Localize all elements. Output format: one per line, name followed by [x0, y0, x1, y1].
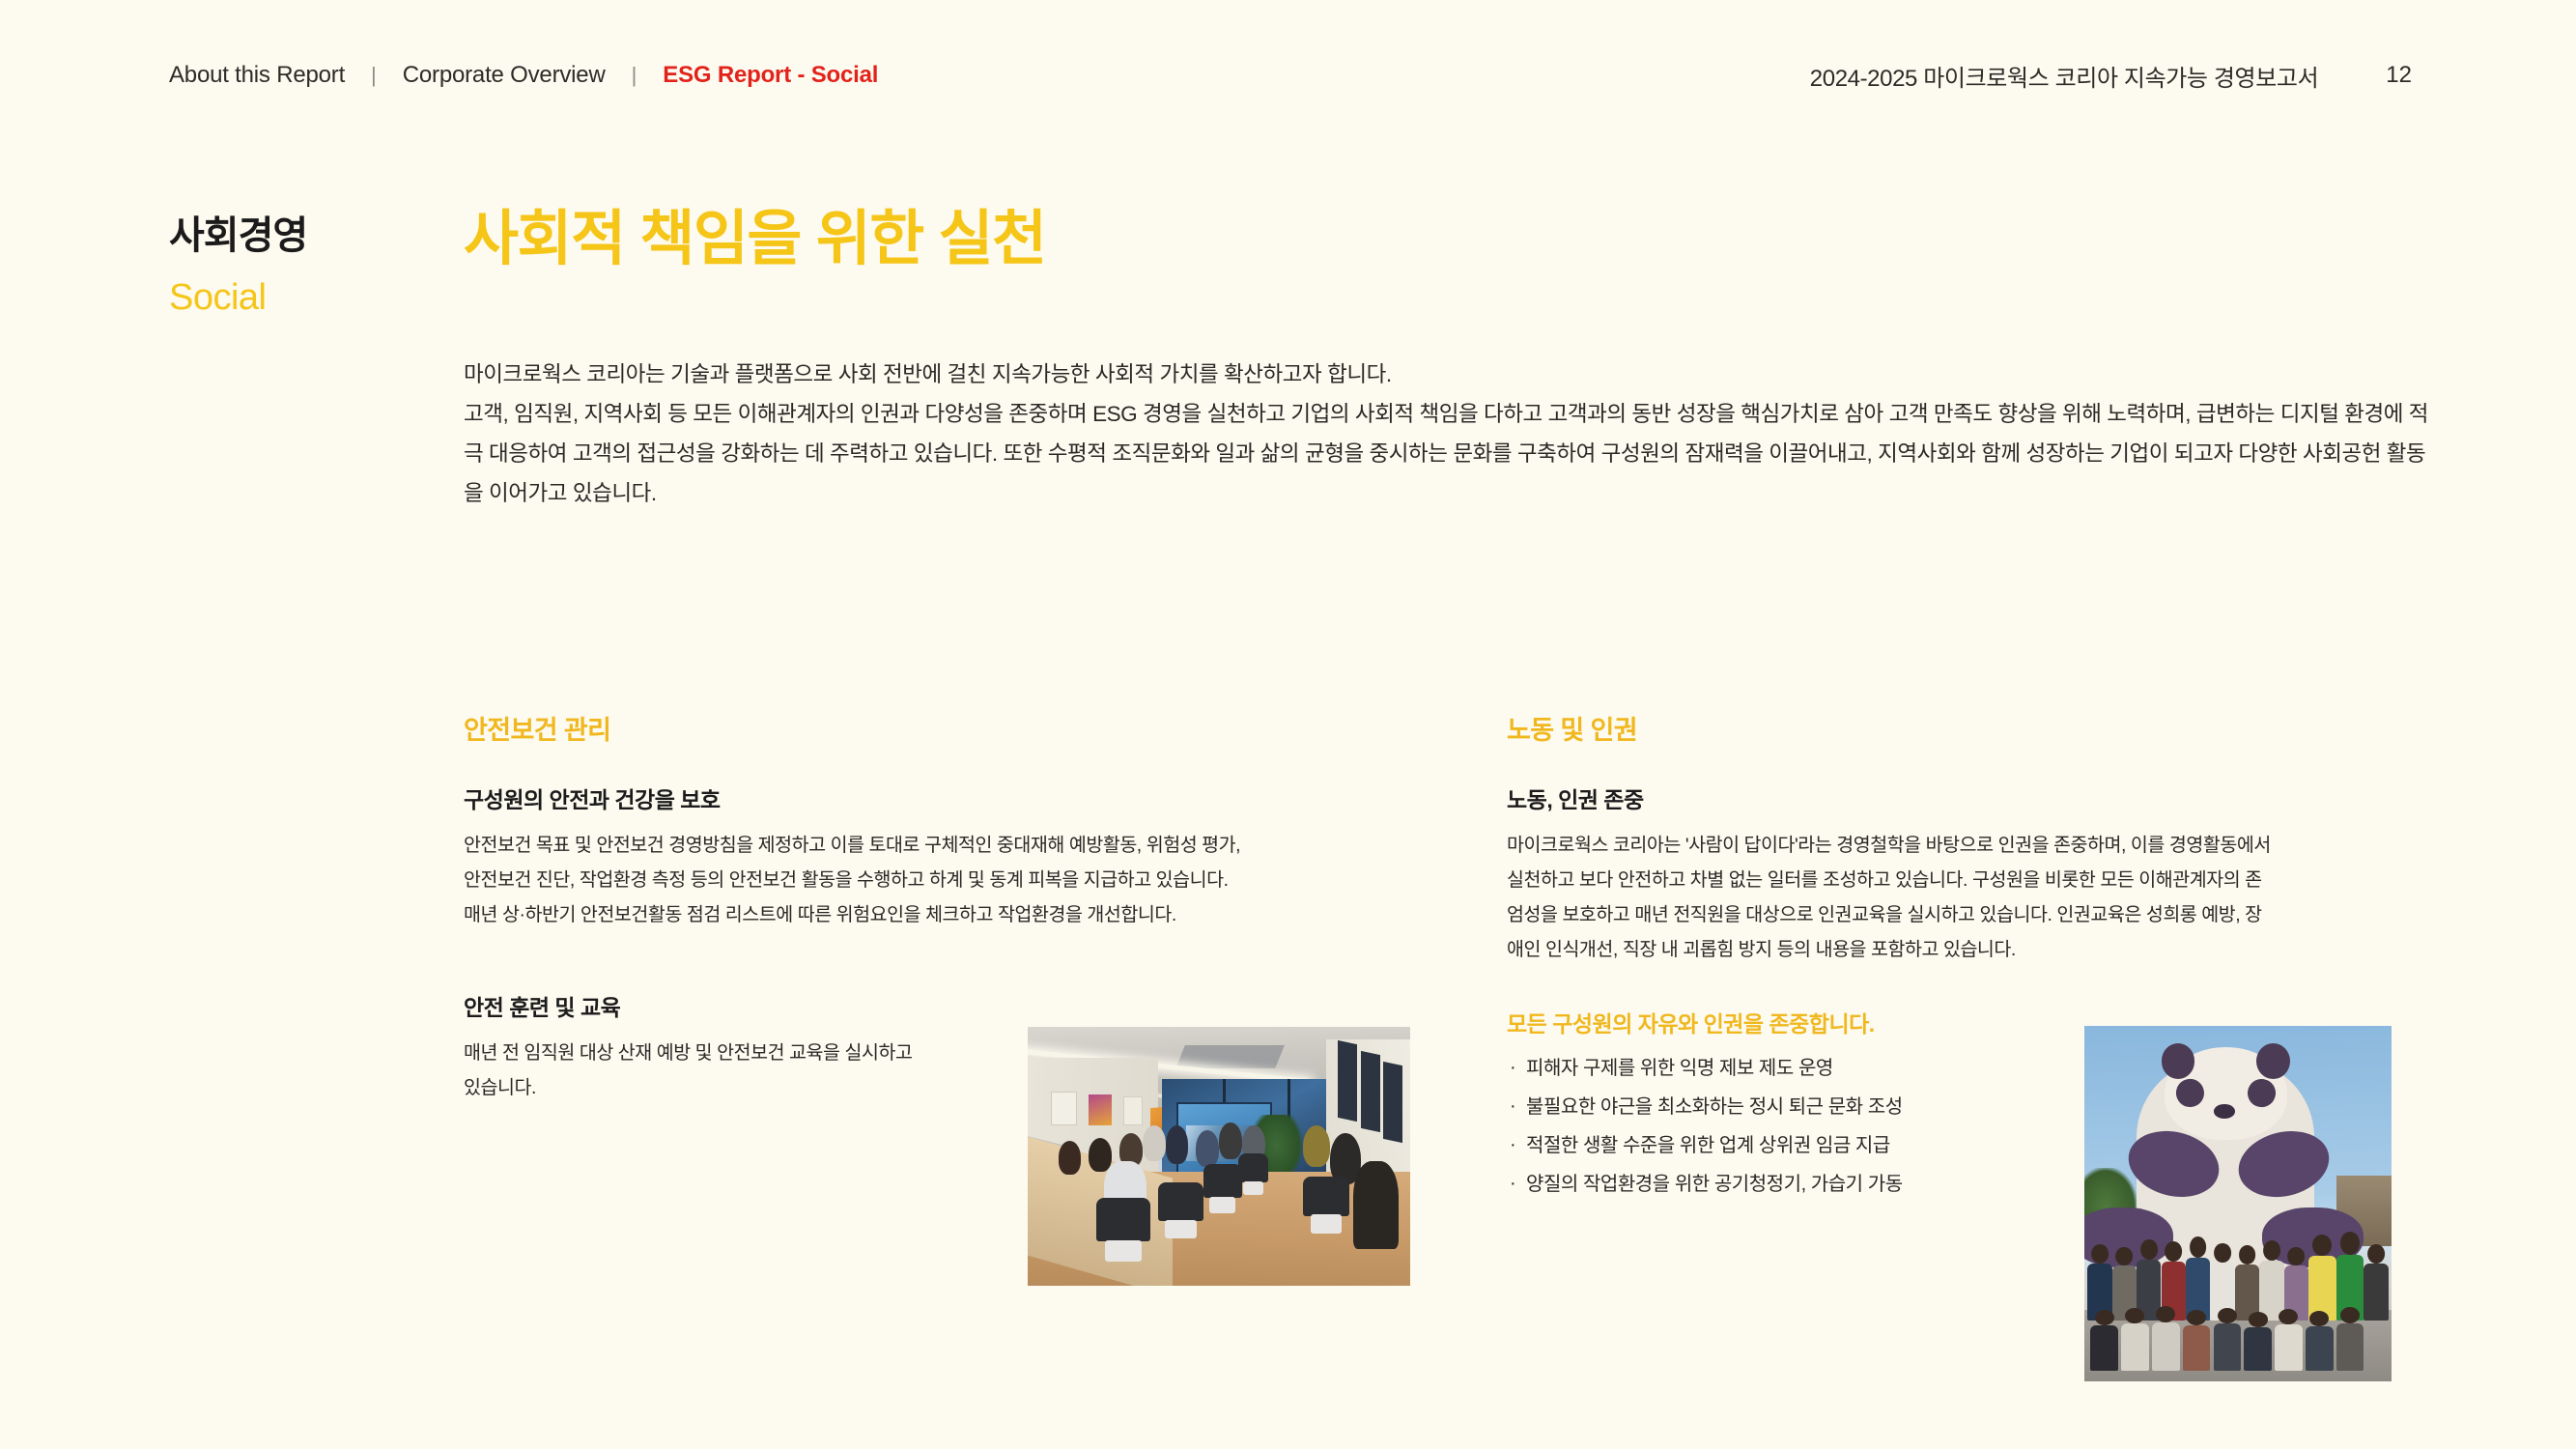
photo-person [1196, 1130, 1219, 1167]
photo-office-chair [1238, 1153, 1269, 1181]
nav-separator: | [606, 63, 664, 88]
photo-person [2214, 1323, 2242, 1371]
breadcrumb-nav: About this Report | Corporate Overview |… [169, 62, 878, 89]
photo-person [2183, 1325, 2211, 1371]
subsection-protect-safety-health: 구성원의 안전과 건강을 보호 안전보건 목표 및 안전보건 경영방침을 제정하… [464, 786, 1410, 932]
photo-person [1353, 1161, 1400, 1249]
body-line: 매년 상·하반기 안전보건활동 점검 리스트에 따른 위험요인을 체크하고 작업… [464, 897, 1410, 932]
photo-wall-panel [1338, 1040, 1357, 1122]
intro-paragraphs: 마이크로웍스 코리아는 기술과 플랫폼으로 사회 전반에 걸친 지속가능한 사회… [464, 355, 2439, 514]
section-side-label: 사회경영 Social [169, 214, 420, 319]
photo-person [1219, 1122, 1242, 1159]
section-title-labor-human-rights: 노동 및 인권 [1507, 715, 2458, 746]
photo-person [2244, 1327, 2272, 1371]
photo-office-chair [1096, 1198, 1149, 1242]
document-title: 2024-2025 마이크로웍스 코리아 지속가능 경영보고서 [1810, 59, 2319, 93]
photo-office-chair [1203, 1164, 1242, 1198]
photo-crowd-front-row [2084, 1293, 2392, 1371]
page-title: 사회적 책임을 위한 실천 [464, 205, 1046, 273]
photo-person [2121, 1323, 2149, 1371]
header-meta: 2024-2025 마이크로웍스 코리아 지속가능 경영보고서 12 [1810, 59, 2412, 93]
side-label-english: Social [169, 278, 420, 319]
photo-wall-art [1089, 1094, 1112, 1125]
page-header: About this Report | Corporate Overview |… [0, 56, 2576, 95]
subsection-body: 매년 전 임직원 대상 산재 예방 및 안전보건 교육을 실시하고 있습니다. [464, 1036, 1043, 1105]
photo-wall-art [1051, 1092, 1078, 1125]
photo-person [1166, 1125, 1189, 1164]
employee-group-panda-photo [2084, 1026, 2392, 1381]
photo-person [1143, 1125, 1166, 1162]
subsection-body: 안전보건 목표 및 안전보건 경영방침을 제정하고 이를 토대로 구체적인 중대… [464, 828, 1410, 932]
photo-ceiling-vent [1176, 1045, 1286, 1068]
photo-wall-panel [1361, 1051, 1380, 1133]
photo-person [1303, 1125, 1330, 1167]
photo-person [2275, 1324, 2303, 1371]
photo-person [2152, 1322, 2180, 1371]
photo-person [1059, 1141, 1082, 1175]
safety-training-meeting-photo [1028, 1027, 1410, 1286]
page-number: 12 [2386, 62, 2412, 89]
subsection-title: 노동, 인권 존중 [1507, 786, 2458, 815]
photo-panda-ear [2256, 1043, 2290, 1079]
body-line: 마이크로웍스 코리아는 '사람이 답이다'라는 경영철학을 바탕으로 인권을 존… [1507, 828, 2458, 863]
photo-wall-panel [1383, 1061, 1402, 1143]
photo-person [2306, 1326, 2334, 1371]
report-page: About this Report | Corporate Overview |… [0, 0, 2576, 1449]
nav-item-esg-report-social[interactable]: ESG Report - Social [663, 62, 878, 89]
photo-office-chair [1158, 1182, 1204, 1221]
photo-person [1089, 1138, 1112, 1172]
subsection-labor-respect: 노동, 인권 존중 마이크로웍스 코리아는 '사람이 답이다'라는 경영철학을 … [1507, 786, 2458, 967]
body-line: 엄성을 보호하고 매년 전직원을 대상으로 인권교육을 실시하고 있습니다. 인… [1507, 897, 2458, 932]
subsection-title: 안전 훈련 및 교육 [464, 994, 1410, 1023]
body-line: 실천하고 보다 안전하고 차별 없는 일터를 조성하고 있습니다. 구성원을 비… [1507, 863, 2458, 897]
photo-person [2090, 1325, 2118, 1371]
section-title-safety-health: 안전보건 관리 [464, 715, 1410, 746]
subsection-title: 구성원의 안전과 건강을 보호 [464, 786, 1410, 815]
body-line: 매년 전 임직원 대상 산재 예방 및 안전보건 교육을 실시하고 [464, 1036, 1043, 1070]
subsection-body: 마이크로웍스 코리아는 '사람이 답이다'라는 경영철학을 바탕으로 인권을 존… [1507, 828, 2458, 967]
body-line: 안전보건 진단, 작업환경 측정 등의 안전보건 활동을 수행하고 하계 및 동… [464, 863, 1410, 897]
body-line: 있습니다. [464, 1070, 1043, 1105]
photo-office-chair [1303, 1177, 1349, 1215]
photo-panda-nose [2214, 1104, 2235, 1119]
photo-wall-art [1123, 1096, 1143, 1124]
nav-separator: | [345, 63, 403, 88]
side-label-korean: 사회경영 [169, 214, 420, 257]
nav-item-corporate-overview[interactable]: Corporate Overview [403, 62, 606, 89]
body-line: 애인 인식개선, 직장 내 괴롭힘 방지 등의 내용을 포함하고 있습니다. [1507, 932, 2458, 967]
body-line: 안전보건 목표 및 안전보건 경영방침을 제정하고 이를 토대로 구체적인 중대… [464, 828, 1410, 863]
intro-line-1: 마이크로웍스 코리아는 기술과 플랫폼으로 사회 전반에 걸친 지속가능한 사회… [464, 355, 2439, 395]
intro-line-2: 고객, 임직원, 지역사회 등 모든 이해관계자의 인권과 다양성을 존중하며 … [464, 395, 2439, 514]
photo-person [2336, 1323, 2364, 1371]
nav-item-about-this-report[interactable]: About this Report [169, 62, 345, 89]
